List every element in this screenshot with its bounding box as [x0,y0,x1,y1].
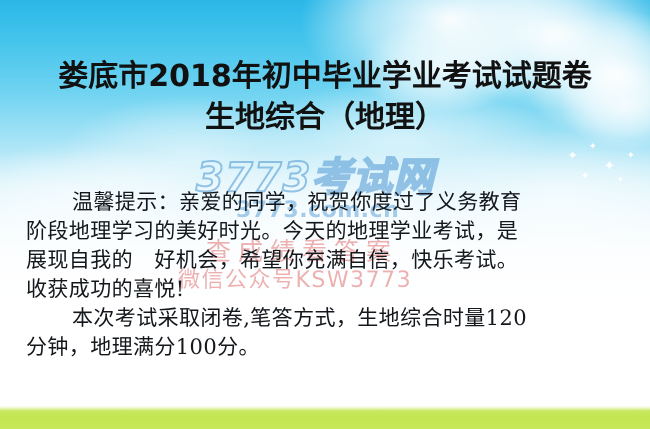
body-text: 温馨提示：亲爱的同学，祝贺你度过了义务教育 阶段地理学习的美好时光。今天的地理学… [26,188,626,362]
title-line-1: 娄底市2018年初中毕业学业考试试题卷 [0,56,650,97]
page-title: 娄底市2018年初中毕业学业考试试题卷 生地综合（地理） [0,56,650,138]
body-line-2: 阶段地理学习的美好时光。今天的地理学业考试，是 [26,217,626,246]
grass-strip [0,406,650,429]
body-line-6: 分钟，地理满分100分。 [26,333,626,362]
title-line-2: 生地综合（地理） [0,97,650,138]
body-line-3: 展现自我的 好机会，希望你充满自信，快乐考试。 [26,246,626,275]
body-line-5: 本次考试采取闭卷,笔答方式，生地综合时量120 [26,304,626,333]
body-line-4: 收获成功的喜悦! [26,275,626,304]
body-line-1: 温馨提示：亲爱的同学，祝贺你度过了义务教育 [26,188,626,217]
slide-canvas: ✦ ✦ ✦ ✦ ✦ ✦ 3773考试网 3773.com.cn 查成绩看答案 微… [0,0,650,429]
